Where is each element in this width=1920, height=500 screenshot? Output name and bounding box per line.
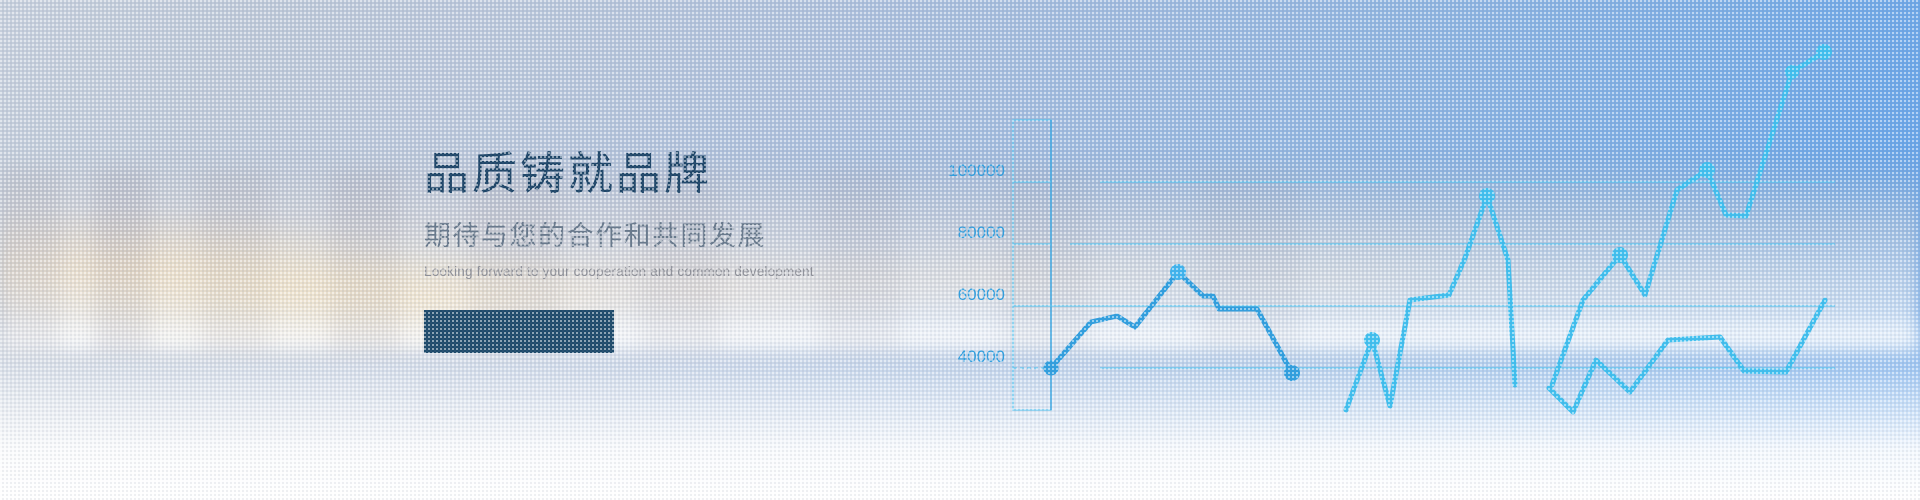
chart-series-3: [1552, 44, 1832, 385]
chart-data-point: [1612, 247, 1628, 263]
hero-copy-block: 品质铸就品牌 期待与您的合作和共同发展 Looking forward to y…: [424, 148, 944, 353]
chart-svg: 100000 80000 60000 40000: [920, 0, 1920, 440]
y-tick-label: 40000: [958, 347, 1005, 366]
hero-line-chart: 100000 80000 60000 40000: [920, 0, 1920, 440]
chart-data-point: [1816, 44, 1832, 60]
chart-data-point: [1044, 361, 1059, 376]
page-title: 品质铸就品牌: [424, 148, 944, 200]
chart-series-4: [1549, 300, 1825, 412]
chart-y-axis-labels: 100000 80000 60000 40000: [948, 161, 1005, 366]
chart-gridlines: [1013, 182, 1835, 368]
chart-data-point: [1699, 162, 1715, 178]
chart-series-2: [1346, 188, 1515, 410]
cta-button[interactable]: [424, 310, 614, 353]
chart-data-point: [1479, 188, 1495, 204]
y-tick-label: 60000: [958, 285, 1005, 304]
chart-data-point: [1364, 332, 1380, 348]
chart-series-1: [1044, 264, 1301, 381]
hero-banner: 品质铸就品牌 期待与您的合作和共同发展 Looking forward to y…: [0, 0, 1920, 500]
hero-subtitle-cn: 期待与您的合作和共同发展: [424, 220, 944, 252]
chart-data-point: [1170, 264, 1186, 280]
hero-subtitle-en: Looking forward to your cooperation and …: [424, 264, 944, 279]
chart-data-point: [1284, 365, 1300, 381]
chart-data-point: [1785, 65, 1799, 79]
y-tick-label: 80000: [958, 223, 1005, 242]
y-tick-label: 100000: [948, 161, 1005, 180]
